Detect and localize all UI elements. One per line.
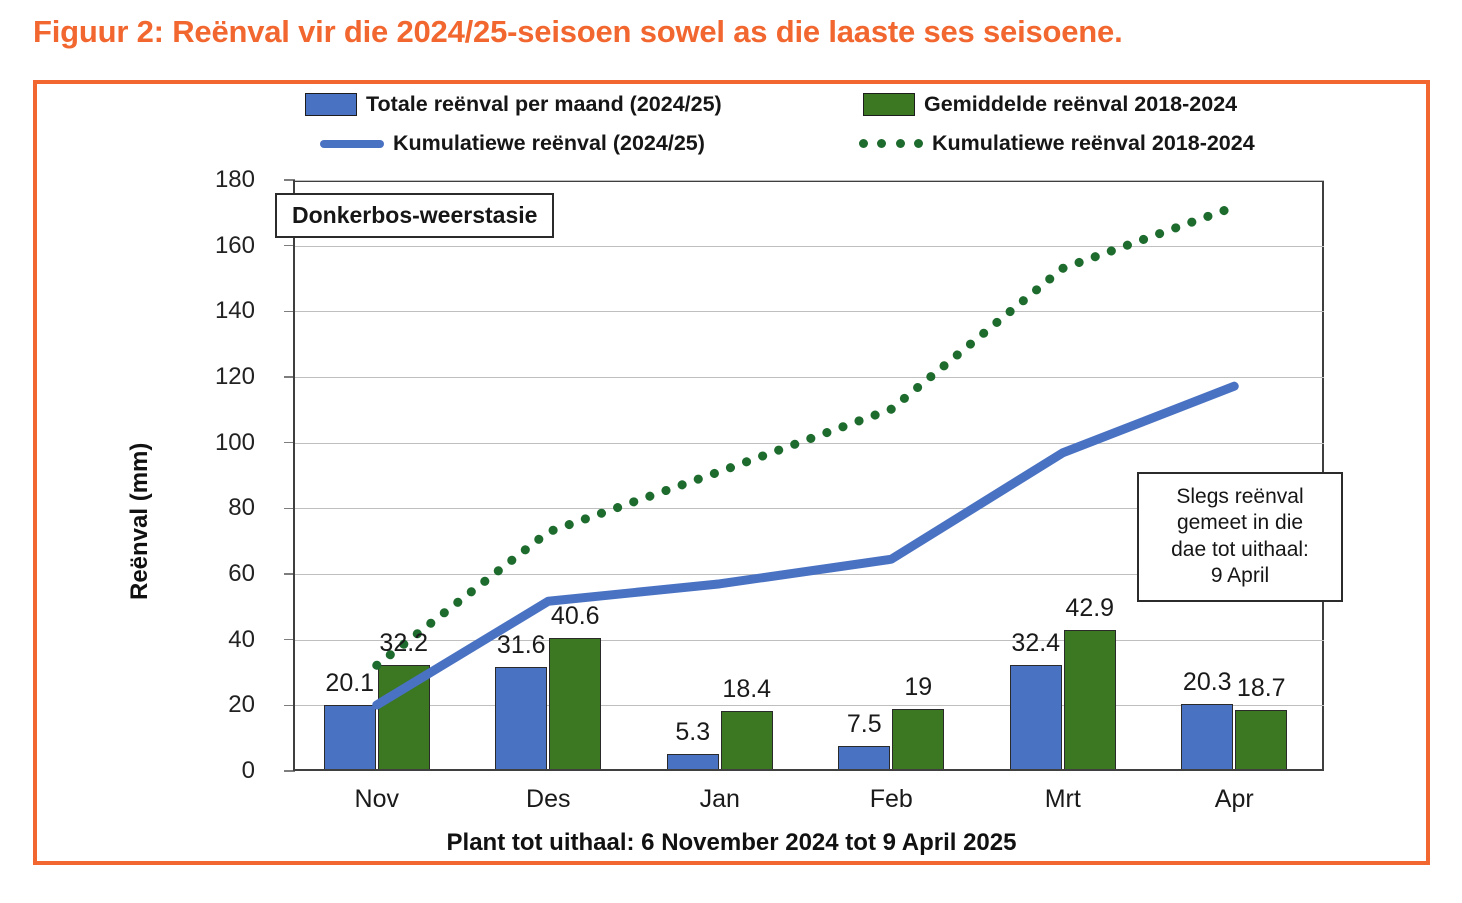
bar-value-label: 5.3 bbox=[675, 718, 710, 747]
x-axis-line bbox=[295, 769, 1324, 772]
bar-value-label: 42.9 bbox=[1065, 594, 1114, 623]
bar-value-label: 20.3 bbox=[1183, 668, 1232, 697]
legend-item-totale-reenval[interactable]: Totale reënval per maand (2024/25) bbox=[305, 92, 722, 117]
bar-value-label: 19 bbox=[904, 673, 932, 702]
note-line-1: Slegs reënval bbox=[1151, 484, 1329, 510]
legend-item-kumulatiewe-2018-2024[interactable]: Kumulatiewe reënval 2018-2024 bbox=[859, 131, 1255, 156]
note-line-4: 9 April bbox=[1151, 563, 1329, 589]
bar-value-label: 18.7 bbox=[1237, 674, 1286, 703]
y-tick-label: 80 bbox=[197, 494, 255, 522]
y-axis-title: Reënval (mm) bbox=[126, 443, 154, 600]
x-tick-label: Feb bbox=[870, 785, 913, 814]
y-tick-label: 0 bbox=[197, 757, 255, 785]
bar-value-label: 32.2 bbox=[379, 629, 428, 658]
x-tick-label: Apr bbox=[1215, 785, 1254, 814]
y-tick-label: 140 bbox=[197, 297, 255, 325]
y-tick-label: 60 bbox=[197, 560, 255, 588]
figure-root: Figuur 2: Reënval vir die 2024/25-seisoe… bbox=[0, 0, 1462, 903]
x-tick-label: Des bbox=[526, 785, 570, 814]
legend-label: Gemiddelde reënval 2018-2024 bbox=[924, 92, 1237, 117]
legend-solid-line-icon bbox=[320, 140, 384, 148]
bar-value-label: 40.6 bbox=[551, 602, 600, 631]
bar-value-label: 32.4 bbox=[1011, 629, 1060, 658]
x-axis-title: Plant tot uithaal: 6 November 2024 tot 9… bbox=[37, 829, 1426, 857]
bar-value-label: 18.4 bbox=[722, 675, 771, 704]
legend-item-gemiddelde-reenval[interactable]: Gemiddelde reënval 2018-2024 bbox=[863, 92, 1237, 117]
y-axis-line bbox=[293, 180, 295, 771]
x-tick-label: Mrt bbox=[1045, 785, 1081, 814]
legend-label: Kumulatiewe reënval (2024/25) bbox=[393, 131, 705, 156]
bar-value-label: 31.6 bbox=[497, 631, 546, 660]
y-tick-label: 100 bbox=[197, 429, 255, 457]
legend-swatch-bar-green-icon bbox=[863, 93, 915, 116]
legend-item-kumulatiewe-2024[interactable]: Kumulatiewe reënval (2024/25) bbox=[320, 131, 705, 156]
chart-frame: Totale reënval per maand (2024/25) Gemid… bbox=[33, 80, 1430, 865]
y-tick-label: 120 bbox=[197, 363, 255, 391]
harvest-note-box: Slegs reënval gemeet in die dae tot uith… bbox=[1137, 472, 1343, 602]
bar-value-label: 20.1 bbox=[325, 669, 374, 698]
legend-label: Totale reënval per maand (2024/25) bbox=[366, 92, 722, 117]
y-tick-label: 40 bbox=[197, 626, 255, 654]
x-tick-label: Jan bbox=[700, 785, 740, 814]
y-tick-label: 20 bbox=[197, 691, 255, 719]
note-line-3: dae tot uithaal: bbox=[1151, 537, 1329, 563]
chart-legend: Totale reënval per maand (2024/25) Gemid… bbox=[37, 84, 1426, 166]
y-tick-label: 160 bbox=[197, 232, 255, 260]
bar-value-label: 7.5 bbox=[847, 710, 882, 739]
legend-dotted-line-icon bbox=[859, 139, 923, 148]
legend-swatch-bar-blue-icon bbox=[305, 93, 357, 116]
x-tick-label: Nov bbox=[355, 785, 399, 814]
y-tick-label: 180 bbox=[197, 166, 255, 194]
station-label-box: Donkerbos-weerstasie bbox=[275, 193, 554, 238]
legend-label: Kumulatiewe reënval 2018-2024 bbox=[932, 131, 1255, 156]
figure-title: Figuur 2: Reënval vir die 2024/25-seisoe… bbox=[33, 14, 1433, 50]
note-line-2: gemeet in die bbox=[1151, 510, 1329, 536]
